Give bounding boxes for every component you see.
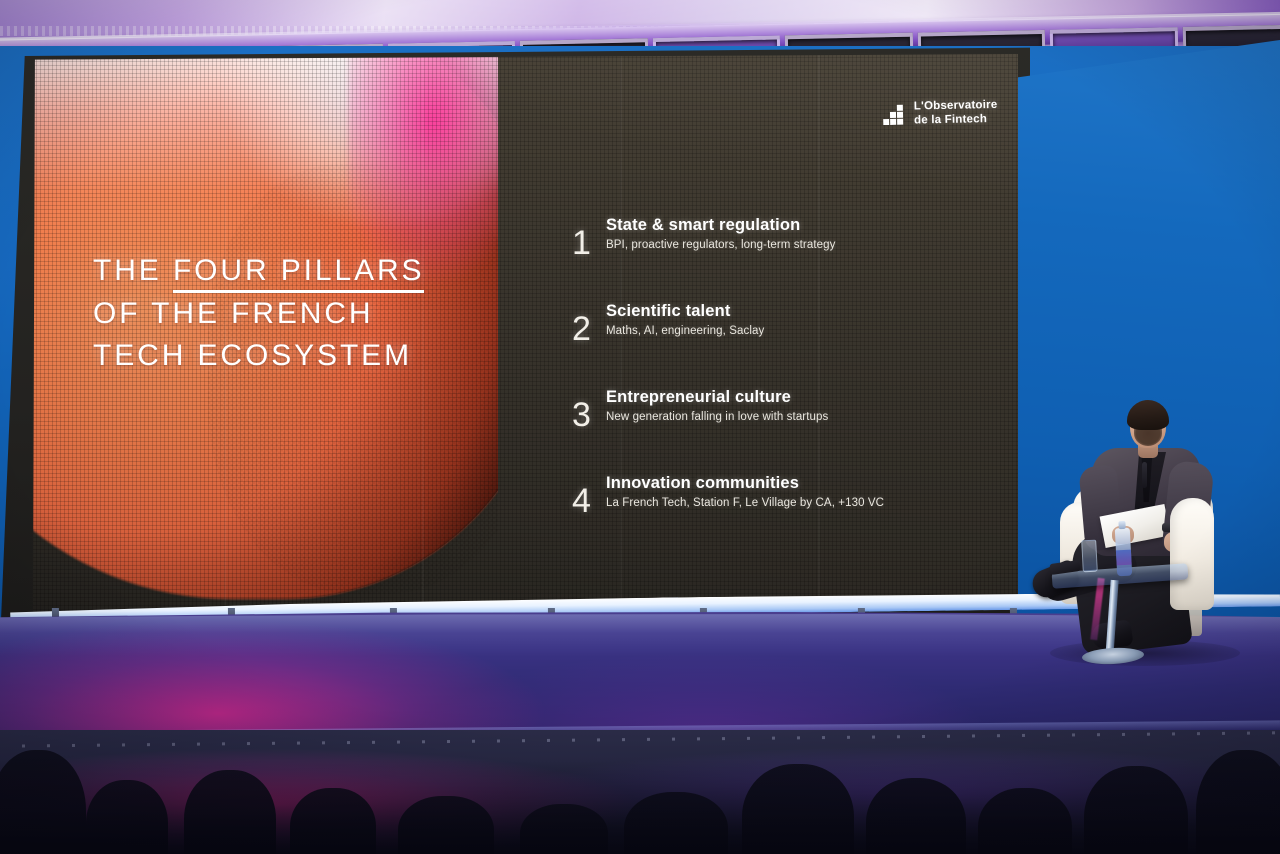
speaker-seating-group <box>1020 390 1260 670</box>
slide-title-line-2: OF THE FRENCH <box>93 293 483 336</box>
logo-line-1: L'Observatoire <box>914 99 998 114</box>
bar-chart-steps-icon <box>883 104 907 125</box>
pillar-number: 4 <box>546 462 606 518</box>
pillar-heading: Entrepreneurial culture <box>606 388 976 407</box>
handheld-microphone <box>1142 462 1147 488</box>
logo-line-2: de la Fintech <box>914 112 998 127</box>
observatoire-logo-text: L'Observatoire de la Fintech <box>914 99 998 128</box>
armchair-right-arm <box>1170 498 1214 610</box>
pillar-text-block: Innovation communities La French Tech, S… <box>606 462 976 509</box>
pillar-text-block: Entrepreneurial culture New generation f… <box>606 376 976 423</box>
pillar-subtitle: Maths, AI, engineering, Saclay <box>606 325 976 337</box>
pillar-heading: State & smart regulation <box>606 216 976 235</box>
observatoire-logo: L'Observatoire de la Fintech <box>883 99 998 128</box>
pillar-heading: Innovation communities <box>606 474 976 493</box>
pillar-text-block: State & smart regulation BPI, proactive … <box>606 204 976 251</box>
pillar-number: 1 <box>546 204 606 260</box>
conference-stage-photo: THE FOUR PILLARS OF THE FRENCH TECH ECOS… <box>0 0 1280 854</box>
pillar-text-block: Scientific talent Maths, AI, engineering… <box>606 290 976 337</box>
pillar-subtitle: New generation falling in love with star… <box>606 411 976 423</box>
speaker-hair <box>1127 400 1169 430</box>
slide-pillar-list: 1 State & smart regulation BPI, proactiv… <box>546 204 976 548</box>
presentation-led-screen: THE FOUR PILLARS OF THE FRENCH TECH ECOS… <box>28 54 1018 614</box>
water-bottle <box>1115 528 1132 577</box>
pillar-number: 3 <box>546 376 606 432</box>
pillar-subtitle: La French Tech, Station F, Le Village by… <box>606 497 976 509</box>
slide-title-line-3: TECH ECOSYSTEM <box>93 335 483 378</box>
pillar-item: 2 Scientific talent Maths, AI, engineeri… <box>546 290 976 376</box>
drinking-glass <box>1081 540 1098 573</box>
pillar-heading: Scientific talent <box>606 302 976 321</box>
water-bottle-label <box>1116 550 1132 566</box>
pillar-item: 3 Entrepreneurial culture New generation… <box>546 376 976 462</box>
pillar-item: 1 State & smart regulation BPI, proactiv… <box>546 204 976 290</box>
slide-title: THE FOUR PILLARS OF THE FRENCH TECH ECOS… <box>93 250 483 378</box>
pillar-subtitle: BPI, proactive regulators, long-term str… <box>606 239 976 251</box>
slide-title-line-1: THE FOUR PILLARS <box>93 250 483 293</box>
foreground-shadow-gradient <box>0 760 1280 854</box>
pillar-item: 4 Innovation communities La French Tech,… <box>546 462 976 548</box>
pillar-number: 2 <box>546 290 606 346</box>
slide-title-prefix: THE <box>93 254 173 287</box>
slide-title-underlined: FOUR PILLARS <box>173 254 425 293</box>
